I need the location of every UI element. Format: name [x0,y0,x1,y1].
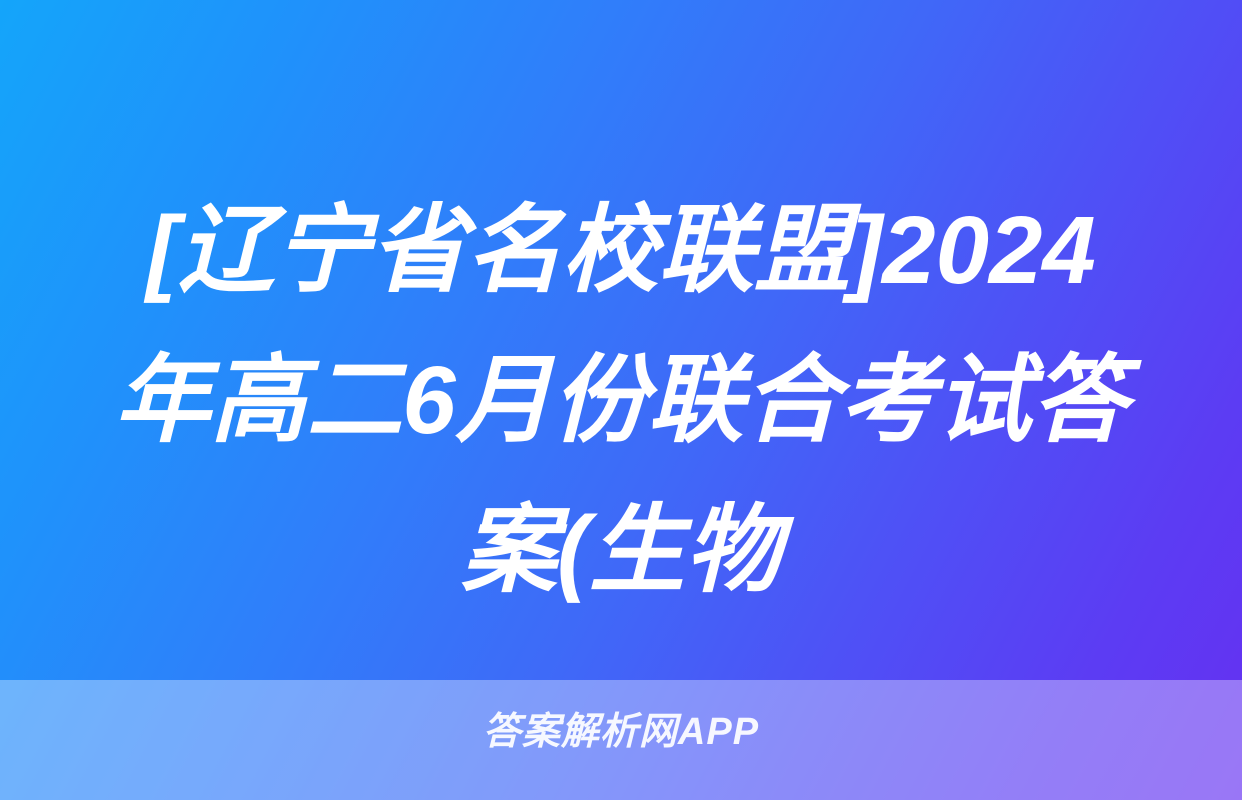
poster-canvas: [辽宁省名校联盟]2024 年高二6月份联合考试答 案(生物 答案解析网APP [0,0,1242,800]
title-line-1: [辽宁省名校联盟]2024 [50,176,1192,326]
page-title: [辽宁省名校联盟]2024 年高二6月份联合考试答 案(生物 [50,176,1192,626]
watermark: 答案解析网APP [0,706,1242,758]
watermark-label: 答案解析网APP [483,706,759,758]
title-line-2: 年高二6月份联合考试答 [50,326,1192,476]
title-line-3: 案(生物 [50,476,1192,626]
